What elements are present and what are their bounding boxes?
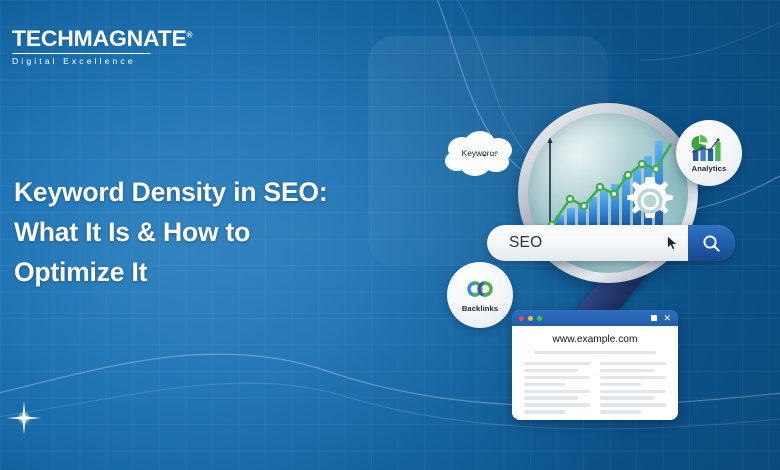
text-line bbox=[524, 362, 590, 365]
text-line bbox=[600, 362, 666, 365]
search-bar[interactable]: SEO bbox=[487, 225, 735, 261]
logo-registered-mark: ® bbox=[187, 31, 193, 40]
text-line bbox=[600, 376, 666, 379]
backlinks-badge-label: Backlinks bbox=[462, 304, 498, 313]
window-controls: ✕ bbox=[651, 314, 671, 323]
traffic-light-red[interactable] bbox=[519, 316, 524, 321]
page-title: Keyword Density in SEO: What It Is & How… bbox=[14, 172, 364, 292]
close-icon[interactable]: ✕ bbox=[663, 314, 671, 323]
logo-tagline: Digital Excellence bbox=[12, 57, 162, 66]
analytics-badge[interactable]: Analytics bbox=[676, 120, 742, 186]
text-line bbox=[600, 390, 666, 393]
analytics-badge-label: Analytics bbox=[692, 164, 727, 173]
content-column-right bbox=[600, 362, 666, 414]
browser-content: www.example.com bbox=[512, 326, 678, 420]
traffic-light-green[interactable] bbox=[537, 316, 542, 321]
text-line bbox=[524, 390, 590, 393]
headline-line-2: What It Is & How to bbox=[14, 212, 364, 252]
seo-blog-banner: TECHMAGNATE® Digital Excellence Keyword … bbox=[0, 0, 780, 470]
text-line bbox=[524, 369, 578, 372]
gear-icon bbox=[624, 175, 676, 227]
brand-logo[interactable]: TECHMAGNATE® Digital Excellence bbox=[12, 28, 162, 65]
chain-link-icon bbox=[463, 277, 497, 303]
headline-line-1: Keyword Density in SEO: bbox=[14, 172, 364, 212]
text-line bbox=[524, 396, 578, 399]
search-input[interactable]: SEO bbox=[509, 234, 666, 252]
text-line bbox=[600, 383, 641, 386]
text-line bbox=[524, 403, 590, 406]
headline-line-3: Optimize It bbox=[14, 252, 364, 292]
seo-illustration: Keywords Analytics bbox=[430, 95, 780, 455]
text-line bbox=[524, 383, 565, 386]
content-columns bbox=[524, 362, 666, 414]
mouse-pointer-icon bbox=[666, 235, 680, 251]
search-icon bbox=[702, 234, 721, 253]
analytics-chart-icon bbox=[691, 133, 727, 163]
keywords-label: Keywords bbox=[440, 130, 520, 178]
sparkle-icon bbox=[4, 398, 44, 438]
url-underline bbox=[534, 351, 656, 354]
text-line bbox=[600, 410, 641, 413]
logo-name: TECHMAGNATE bbox=[12, 26, 187, 51]
text-line bbox=[600, 369, 654, 372]
traffic-light-yellow[interactable] bbox=[528, 316, 533, 321]
maximize-icon[interactable] bbox=[651, 315, 657, 321]
content-column-left bbox=[524, 362, 590, 414]
keywords-thought-bubble: Keywords bbox=[440, 130, 520, 178]
text-line bbox=[524, 410, 565, 413]
bubble-dot-1 bbox=[489, 145, 496, 152]
bubble-dot-3 bbox=[502, 160, 506, 164]
browser-window-mockup: ✕ www.example.com bbox=[512, 310, 678, 420]
search-button[interactable] bbox=[688, 225, 735, 261]
text-line bbox=[600, 396, 654, 399]
text-line bbox=[600, 403, 666, 406]
text-line bbox=[524, 376, 590, 379]
bubble-dot-2 bbox=[496, 153, 501, 158]
backlinks-badge[interactable]: Backlinks bbox=[447, 262, 513, 328]
browser-title-bar: ✕ bbox=[512, 310, 678, 326]
logo-divider bbox=[12, 53, 151, 55]
logo-wordmark: TECHMAGNATE® bbox=[12, 28, 165, 51]
browser-url-text: www.example.com bbox=[524, 334, 666, 345]
